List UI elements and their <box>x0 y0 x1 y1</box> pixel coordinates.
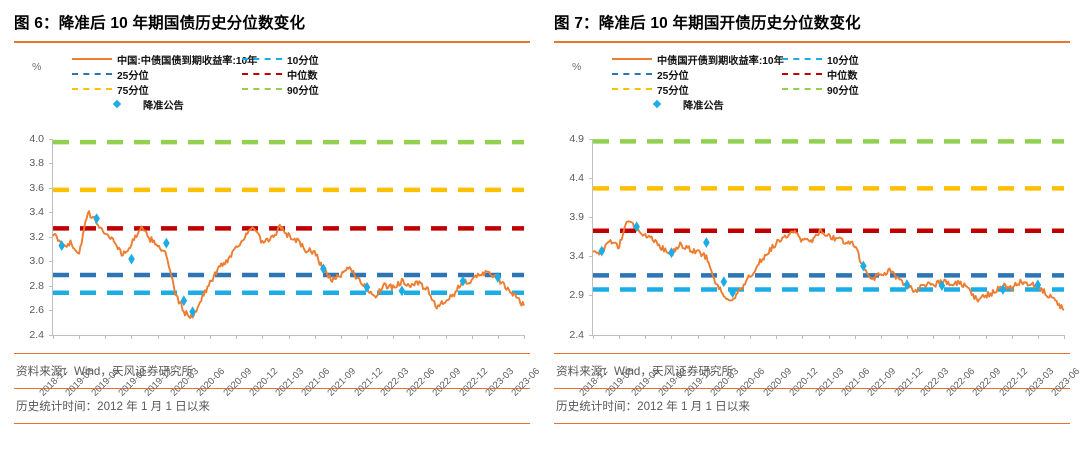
legend-label: 中国:中债国债到期收益率:10年 <box>117 52 257 67</box>
diamond-marker-icon <box>98 99 138 109</box>
legend-label: 75分位 <box>117 82 149 97</box>
y-tick-label: 3.9 <box>569 211 584 223</box>
legend-item-p50: 中位数 <box>242 67 530 82</box>
y-tick-mark <box>49 212 53 213</box>
series-line-中国:中债国债到期收益率:10年 <box>53 211 524 318</box>
dashed-line-swatch-icon <box>782 73 822 75</box>
y-tick-mark <box>49 237 53 238</box>
y-tick-label: 3.0 <box>29 255 44 267</box>
y-tick-label: 4.9 <box>569 133 584 145</box>
y-tick-mark <box>49 163 53 164</box>
figure-6-plot-area <box>52 139 524 336</box>
x-tick-label: 2022-12 <box>997 365 1030 398</box>
y-tick-label: 3.6 <box>29 182 44 194</box>
figure-7-legend: 中债国开债到期收益率:10年 10分位 25分位 中位数 75分位 <box>612 52 1070 112</box>
dashed-line-swatch-icon <box>72 88 112 90</box>
dashed-line-swatch-icon <box>612 88 652 90</box>
x-tick-label: 2022-09 <box>431 365 464 398</box>
figure-6-plot-frame: 2.42.62.83.03.23.43.63.84.0 2018-122019-… <box>14 139 524 353</box>
x-tick-label: 2020-06 <box>195 365 228 398</box>
event-marker-降准公告 <box>93 213 100 224</box>
figure-7-plot-area <box>592 139 1064 336</box>
legend-item-p75: 75分位 <box>612 82 782 97</box>
figure-6-title: 图 6：降准后 10 年期国债历史分位数变化 <box>14 0 530 41</box>
x-tick-mark <box>524 335 525 339</box>
dashed-line-swatch-icon <box>242 88 282 90</box>
legend-item-p90: 90分位 <box>782 82 1070 97</box>
x-tick-label: 2022-09 <box>971 365 1004 398</box>
legend-label: 25分位 <box>657 67 689 82</box>
event-marker-降准公告 <box>128 253 135 264</box>
legend-label: 75分位 <box>657 82 689 97</box>
figure-7-y-axis: 2.42.93.43.94.44.9 <box>554 139 588 335</box>
y-tick-label: 2.4 <box>569 329 584 341</box>
y-tick-mark <box>589 256 593 257</box>
dashed-line-swatch-icon <box>782 88 822 90</box>
figure-7-bottom-divider <box>554 423 1070 424</box>
line-swatch-icon <box>72 58 112 60</box>
legend-label: 中位数 <box>827 67 858 82</box>
y-tick-label: 3.2 <box>29 231 44 243</box>
figure-7-title: 图 7：降准后 10 年期国开债历史分位数变化 <box>554 0 1070 41</box>
x-tick-label: 2021-12 <box>352 365 385 398</box>
figure-6-svg <box>53 139 524 335</box>
figure-6-x-axis: 2018-122019-032019-062019-092019-122020-… <box>52 337 524 417</box>
legend-item-p50: 中位数 <box>782 67 1070 82</box>
x-tick-label: 2020-06 <box>735 365 768 398</box>
x-tick-label: 2019-06 <box>90 365 123 398</box>
y-tick-label: 4.0 <box>29 133 44 145</box>
legend-item-marker: 降准公告 <box>612 97 782 112</box>
figure-6-legend: 中国:中债国债到期收益率:10年 10分位 25分位 中位数 75分位 <box>72 52 530 112</box>
x-tick-label: 2021-09 <box>326 365 359 398</box>
y-tick-label: 2.9 <box>569 289 584 301</box>
event-marker-降准公告 <box>163 237 170 248</box>
legend-item-p25: 25分位 <box>72 67 242 82</box>
dashed-line-swatch-icon <box>242 73 282 75</box>
report-figures-page: 图 6：降准后 10 年期国债历史分位数变化 % 中国:中债国债到期收益率:10… <box>0 0 1080 453</box>
y-tick-label: 3.4 <box>29 206 44 218</box>
figure-panel-6: 图 6：降准后 10 年期国债历史分位数变化 % 中国:中债国债到期收益率:10… <box>0 0 540 453</box>
legend-item-series: 中国:中债国债到期收益率:10年 <box>72 52 242 67</box>
legend-label: 中位数 <box>287 67 318 82</box>
line-swatch-icon <box>612 58 652 60</box>
figure-7-chart: % 中债国开债到期收益率:10年 10分位 25分位 中位数 <box>554 43 1070 353</box>
y-tick-mark <box>49 188 53 189</box>
legend-item-marker: 降准公告 <box>72 97 242 112</box>
y-tick-label: 2.4 <box>29 329 44 341</box>
x-tick-label: 2019-09 <box>116 365 149 398</box>
figure-panel-7: 图 7：降准后 10 年期国开债历史分位数变化 % 中债国开债到期收益率:10年… <box>540 0 1080 453</box>
y-tick-mark <box>49 261 53 262</box>
x-tick-mark <box>1064 335 1065 339</box>
dashed-line-swatch-icon <box>612 73 652 75</box>
y-tick-mark <box>49 139 53 140</box>
dashed-line-swatch-icon <box>782 58 822 60</box>
dashed-line-swatch-icon <box>72 73 112 75</box>
y-tick-mark <box>589 139 593 140</box>
legend-label: 90分位 <box>287 82 319 97</box>
y-tick-mark <box>589 295 593 296</box>
figure-7-plot-frame: 2.42.93.43.94.44.9 2018-122019-032019-06… <box>554 139 1064 353</box>
legend-label: 中债国开债到期收益率:10年 <box>657 52 784 67</box>
y-tick-mark <box>589 217 593 218</box>
legend-item-p25: 25分位 <box>612 67 782 82</box>
legend-item-p75: 75分位 <box>72 82 242 97</box>
figure-6-y-axis: 2.42.62.83.03.23.43.63.84.0 <box>14 139 48 335</box>
y-tick-label: 3.8 <box>29 157 44 169</box>
figure-7-svg <box>593 139 1064 335</box>
figure-7-unit-label: % <box>572 61 581 73</box>
legend-label: 25分位 <box>117 67 149 82</box>
y-tick-label: 4.4 <box>569 172 584 184</box>
legend-label: 降准公告 <box>143 97 184 112</box>
y-tick-label: 2.8 <box>29 280 44 292</box>
legend-item-p10: 10分位 <box>782 52 1070 67</box>
legend-item-p10: 10分位 <box>242 52 530 67</box>
legend-item-p90: 90分位 <box>242 82 530 97</box>
x-tick-label: 2019-06 <box>630 365 663 398</box>
y-tick-label: 3.4 <box>569 250 584 262</box>
x-tick-label: 2020-09 <box>221 365 254 398</box>
x-tick-label: 2021-09 <box>866 365 899 398</box>
legend-label: 10分位 <box>287 52 319 67</box>
figure-7-x-axis: 2018-122019-032019-062019-092019-122020-… <box>592 337 1064 417</box>
legend-label: 90分位 <box>827 82 859 97</box>
y-tick-mark <box>589 178 593 179</box>
x-tick-label: 2021-12 <box>892 365 925 398</box>
event-marker-降准公告 <box>703 237 710 248</box>
x-tick-label: 2022-12 <box>457 365 490 398</box>
series-line-中债国开债到期收益率:10年 <box>593 221 1064 310</box>
y-tick-mark <box>49 286 53 287</box>
event-marker-降准公告 <box>721 276 728 287</box>
figure-6-unit-label: % <box>32 61 41 73</box>
x-tick-label: 2019-09 <box>656 365 689 398</box>
legend-label: 降准公告 <box>683 97 724 112</box>
legend-item-series: 中债国开债到期收益率:10年 <box>612 52 782 67</box>
figure-6-bottom-divider <box>14 423 530 424</box>
legend-label: 10分位 <box>827 52 859 67</box>
y-tick-mark <box>49 310 53 311</box>
diamond-marker-icon <box>638 99 678 109</box>
figure-6-chart: % 中国:中债国债到期收益率:10年 10分位 25分位 中位数 <box>14 43 530 353</box>
dashed-line-swatch-icon <box>242 58 282 60</box>
y-tick-label: 2.6 <box>29 304 44 316</box>
x-tick-label: 2020-09 <box>761 365 794 398</box>
